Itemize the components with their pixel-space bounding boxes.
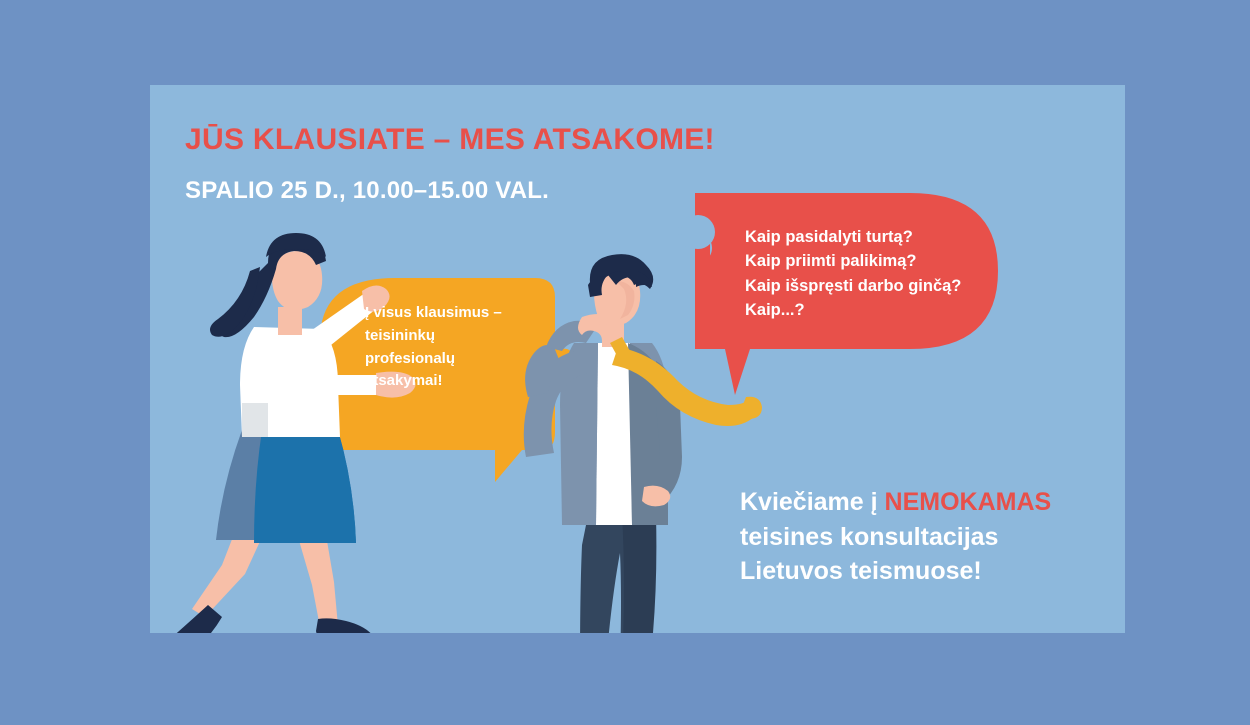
answer-line: Į visus klausimus –	[365, 302, 550, 325]
question-line: Kaip priimti palikimą?	[745, 249, 1025, 273]
event-datetime: SPALIO 25 D., 10.00–15.00 VAL.	[185, 177, 549, 205]
question-line: Kaip išspręsti darbo ginčą?	[745, 274, 1025, 298]
cta-line-3: Lietuvos teismuose!	[740, 554, 1110, 589]
answer-line: atsakymai!	[365, 370, 550, 393]
poster-root: JŪS KLAUSIATE – MES ATSAKOME! SPALIO 25 …	[0, 0, 1250, 725]
yellow-bubble-answer-text: Į visus klausimus – teisininkų profesion…	[365, 302, 550, 393]
cta-line-1-prefix: Kviečiame į	[740, 488, 885, 516]
answer-line: profesionalų	[365, 348, 550, 371]
red-bubble-question-list: Kaip pasidalyti turtą? Kaip priimti pali…	[745, 225, 1025, 323]
cta-line-2: teisines konsultacijas	[740, 520, 1110, 555]
cta-highlight-free: NEMOKAMAS	[885, 488, 1052, 516]
question-line: Kaip pasidalyti turtą?	[745, 225, 1025, 249]
cta-line-1: Kviečiame į NEMOKAMAS	[740, 485, 1110, 520]
question-line: Kaip...?	[745, 298, 1025, 322]
answer-line: teisininkų	[365, 325, 550, 348]
call-to-action-block: Kviečiame į NEMOKAMAS teisines konsultac…	[740, 485, 1110, 589]
page-title: JŪS KLAUSIATE – MES ATSAKOME!	[185, 123, 715, 157]
poster-panel: JŪS KLAUSIATE – MES ATSAKOME! SPALIO 25 …	[150, 85, 1125, 633]
